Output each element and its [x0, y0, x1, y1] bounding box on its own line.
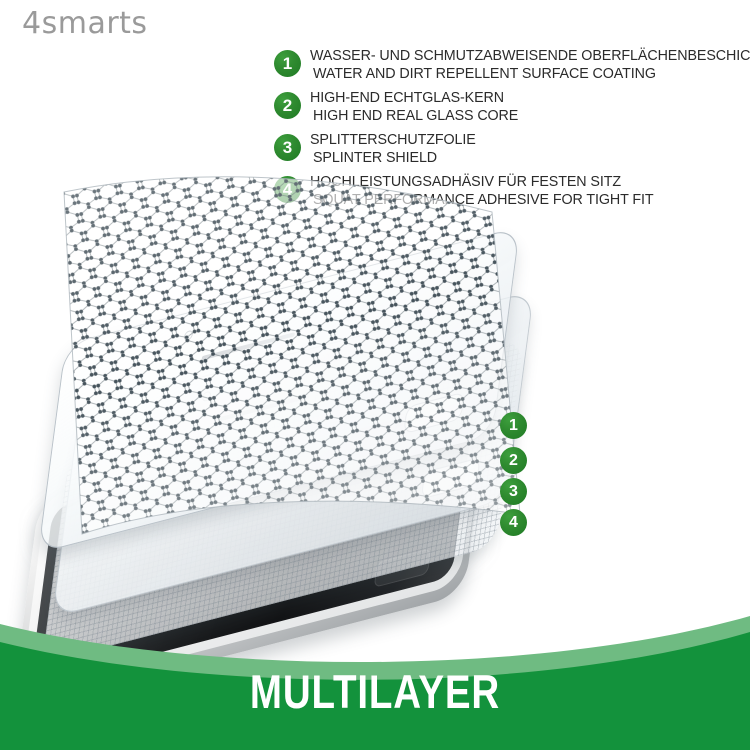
legend-text-de-1: WASSER- UND SCHMUTZABWEISENDE OBERFLÄCHE… — [310, 48, 750, 66]
legend-text-en-1: WATER AND DIRT REPELLENT SURFACE COATING — [310, 66, 750, 84]
callout-badge-4: 4 — [500, 509, 527, 536]
legend-text-de-3: SPLITTERSCHUTZFOLIE — [310, 132, 750, 150]
exploded-layer-illustration: 1 2 3 4 — [0, 150, 750, 650]
brand-logo: 4smarts — [22, 6, 148, 41]
callout-badge-2: 2 — [500, 447, 527, 474]
legend-badge-1: 1 — [274, 50, 301, 77]
callout-badge-3: 3 — [500, 478, 527, 505]
legend-text-1: WASSER- UND SCHMUTZABWEISENDE OBERFLÄCHE… — [310, 48, 750, 83]
legend-text-de-2: HIGH-END ECHTGLAS-KERN — [310, 90, 750, 108]
product-infographic: 4smarts 1 WASSER- UND SCHMUTZABWEISENDE … — [0, 0, 750, 750]
banner-title: MULTILAYER — [68, 664, 683, 719]
layer-surface-coating-mesh — [22, 162, 522, 562]
legend-badge-2: 2 — [274, 92, 301, 119]
mesh-pattern-fill — [0, 122, 582, 602]
legend-item-2: 2 HIGH-END ECHTGLAS-KERN HIGH END REAL G… — [274, 90, 750, 128]
legend-text-en-2: HIGH END REAL GLASS CORE — [310, 108, 750, 126]
legend-text-2: HIGH-END ECHTGLAS-KERN HIGH END REAL GLA… — [310, 90, 750, 125]
callout-badge-1: 1 — [500, 412, 527, 439]
bottom-banner: MULTILAYER — [0, 602, 750, 750]
legend-item-1: 1 WASSER- UND SCHMUTZABWEISENDE OBERFLÄC… — [274, 48, 750, 86]
